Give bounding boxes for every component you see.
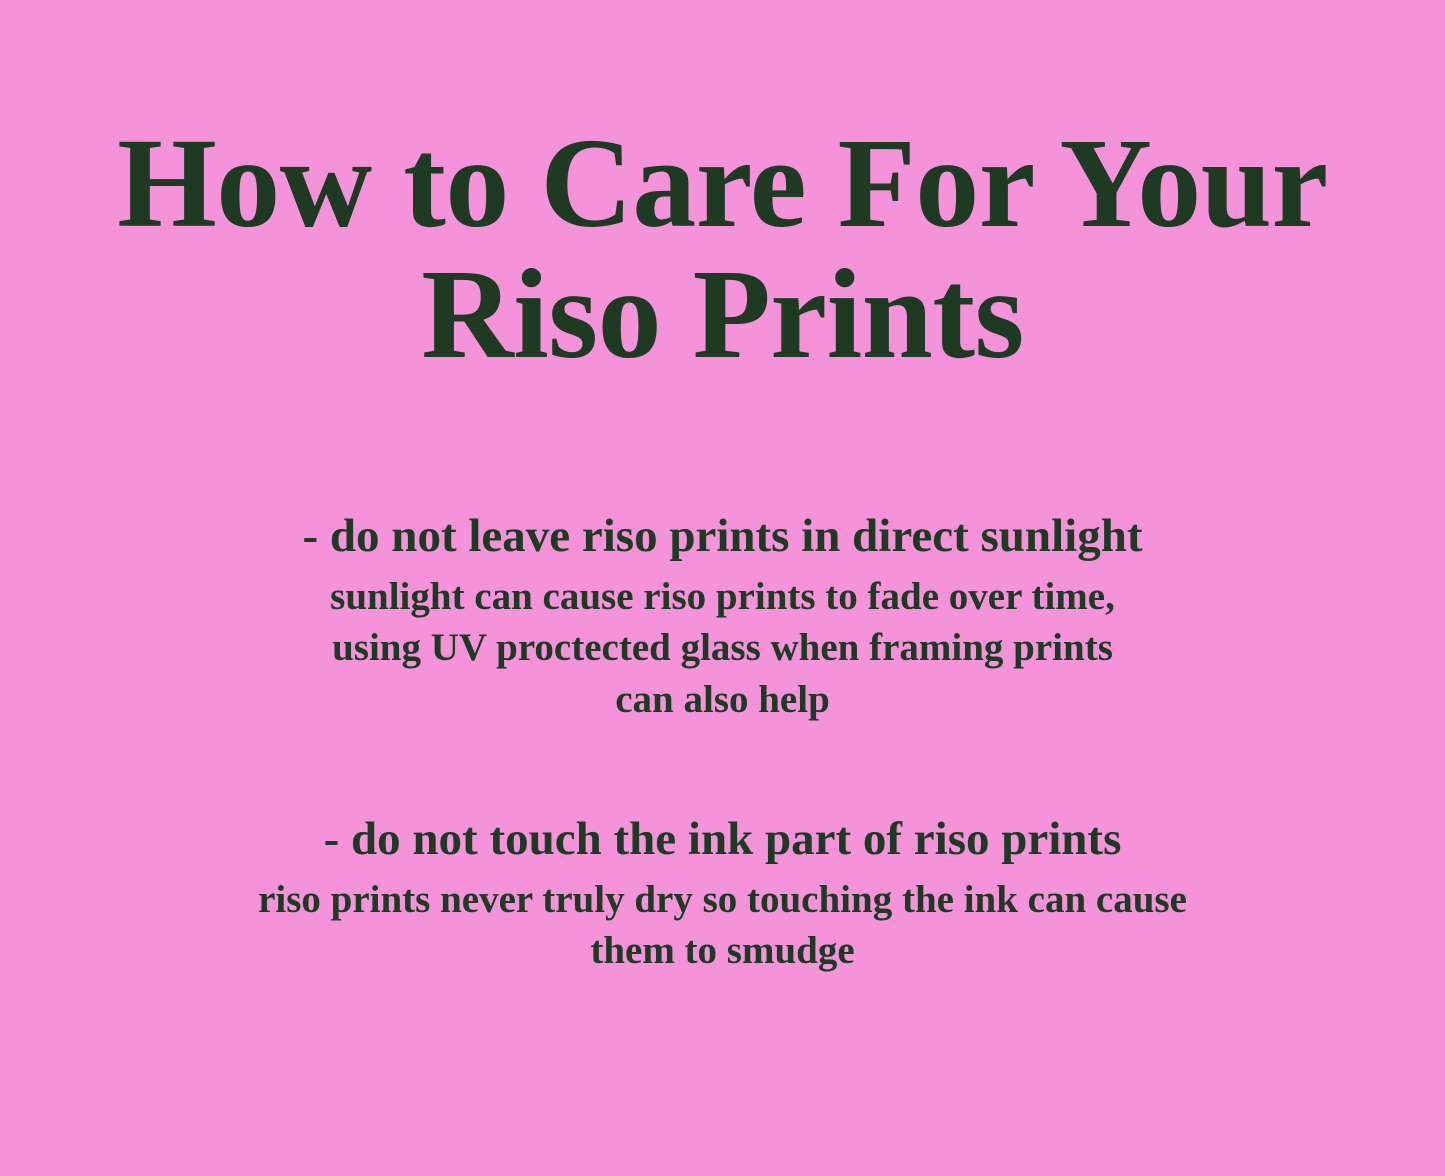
care-section-ink-detail-2: them to smudge [30,925,1415,977]
care-section-sunlight: - do not leave riso prints in direct sun… [30,509,1415,726]
page-title-line-2: Riso Prints [40,249,1405,380]
care-section-ink-heading: - do not touch the ink part of riso prin… [30,812,1415,867]
page-title: How to Care For Your Riso Prints [0,118,1445,379]
care-section-sunlight-detail-3: can also help [30,674,1415,726]
care-section-ink: - do not touch the ink part of riso prin… [30,812,1415,977]
care-section-ink-detail-1: riso prints never truly dry so touching … [30,874,1415,926]
care-instructions-list: - do not leave riso prints in direct sun… [0,509,1445,977]
page-title-line-1: How to Care For Your [40,118,1405,249]
care-section-sunlight-detail-2: using UV proctected glass when framing p… [30,622,1415,674]
riso-care-poster: How to Care For Your Riso Prints - do no… [0,0,1445,1176]
care-section-sunlight-heading: - do not leave riso prints in direct sun… [30,509,1415,564]
care-section-sunlight-detail-1: sunlight can cause riso prints to fade o… [30,571,1415,623]
